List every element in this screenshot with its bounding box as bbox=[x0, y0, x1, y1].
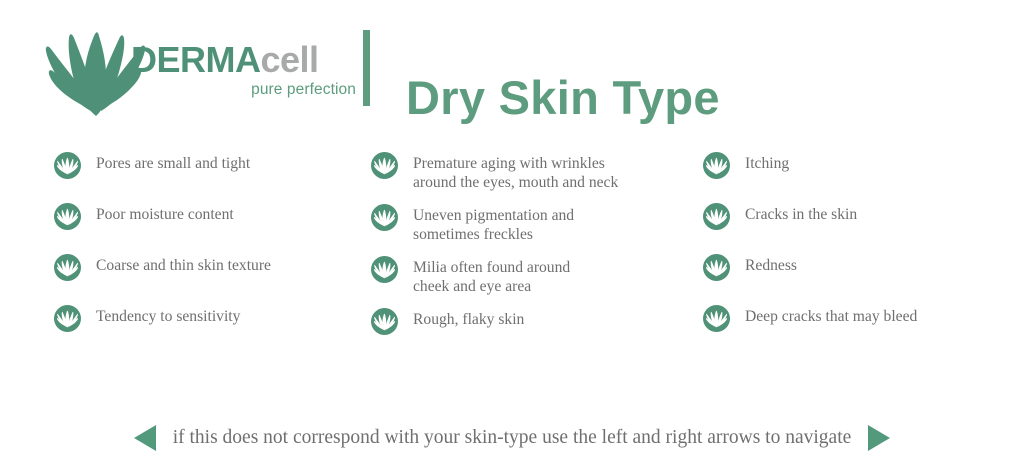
aloe-bullet-icon bbox=[371, 256, 398, 283]
feature-item-label: Pores are small and tight bbox=[96, 152, 354, 173]
feature-item-line: Itching bbox=[745, 154, 1003, 173]
aloe-bullet-icon bbox=[703, 305, 730, 332]
feature-item-label: Coarse and thin skin texture bbox=[96, 254, 354, 275]
aloe-bullet-icon bbox=[54, 305, 81, 332]
feature-item-label: Cracks in the skin bbox=[745, 203, 1003, 224]
aloe-bullet-icon bbox=[371, 152, 398, 179]
aloe-bullet-icon bbox=[54, 203, 81, 230]
aloe-bullet-icon bbox=[371, 204, 398, 231]
feature-item: Tendency to sensitivity bbox=[54, 305, 354, 331]
navigation-footer: if this does not correspond with your sk… bbox=[0, 415, 1024, 461]
feature-item-label: Uneven pigmentation andsometimes freckle… bbox=[413, 204, 693, 244]
aloe-bullet-icon bbox=[703, 152, 730, 179]
brand-tagline: pure perfection bbox=[131, 81, 356, 99]
feature-item-label: Premature aging with wrinklesaround the … bbox=[413, 152, 693, 192]
brand-name-secondary: cell bbox=[261, 39, 319, 80]
feature-column-2: Premature aging with wrinklesaround the … bbox=[371, 152, 693, 346]
feature-item-line: Premature aging with wrinkles bbox=[413, 154, 693, 173]
aloe-bullet-icon bbox=[54, 254, 81, 281]
feature-item-label: Deep cracks that may bleed bbox=[745, 305, 1003, 326]
feature-item: Deep cracks that may bleed bbox=[703, 305, 1003, 331]
aloe-bullet-icon bbox=[54, 152, 81, 179]
brand-name-primary: DERMA bbox=[131, 39, 261, 80]
feature-item: Rough, flaky skin bbox=[371, 308, 693, 334]
feature-item-label: Tendency to sensitivity bbox=[96, 305, 354, 326]
feature-item-line: Cracks in the skin bbox=[745, 205, 1003, 224]
feature-item-line: Uneven pigmentation and bbox=[413, 206, 693, 225]
brand-name: DERMAcell bbox=[131, 40, 356, 80]
feature-item-line: sometimes freckles bbox=[413, 225, 693, 244]
page-header: DERMAcell pure perfection Dry Skin Type bbox=[0, 0, 1024, 130]
feature-item: Pores are small and tight bbox=[54, 152, 354, 178]
feature-item-label: Itching bbox=[745, 152, 1003, 173]
feature-item: Premature aging with wrinklesaround the … bbox=[371, 152, 693, 192]
feature-item-line: Coarse and thin skin texture bbox=[96, 256, 354, 275]
feature-column-3: ItchingCracks in the skinRednessDeep cra… bbox=[703, 152, 1003, 356]
feature-item: Cracks in the skin bbox=[703, 203, 1003, 229]
feature-item-line: Rough, flaky skin bbox=[413, 310, 693, 329]
feature-item: Milia often found aroundcheek and eye ar… bbox=[371, 256, 693, 296]
feature-item-line: Poor moisture content bbox=[96, 205, 354, 224]
page-title: Dry Skin Type bbox=[406, 69, 720, 127]
feature-item-line: Milia often found around bbox=[413, 258, 693, 277]
feature-item: Redness bbox=[703, 254, 1003, 280]
feature-item-line: Deep cracks that may bleed bbox=[745, 307, 1003, 326]
feature-item: Itching bbox=[703, 152, 1003, 178]
feature-item-line: Pores are small and tight bbox=[96, 154, 354, 173]
navigation-hint: if this does not correspond with your sk… bbox=[159, 426, 866, 450]
feature-item-label: Redness bbox=[745, 254, 1003, 275]
header-divider bbox=[363, 30, 370, 106]
feature-item-line: cheek and eye area bbox=[413, 277, 693, 296]
feature-item: Poor moisture content bbox=[54, 203, 354, 229]
aloe-bullet-icon bbox=[703, 203, 730, 230]
aloe-bullet-icon bbox=[371, 308, 398, 335]
brand-wordmark: DERMAcell pure perfection bbox=[131, 40, 356, 110]
feature-item-label: Milia often found aroundcheek and eye ar… bbox=[413, 256, 693, 296]
feature-item-label: Rough, flaky skin bbox=[413, 308, 693, 329]
feature-item: Uneven pigmentation andsometimes freckle… bbox=[371, 204, 693, 244]
feature-item-line: Tendency to sensitivity bbox=[96, 307, 354, 326]
arrow-left-icon[interactable] bbox=[131, 423, 159, 453]
features-columns: Pores are small and tightPoor moisture c… bbox=[0, 152, 1024, 362]
feature-column-1: Pores are small and tightPoor moisture c… bbox=[54, 152, 354, 356]
feature-item-line: around the eyes, mouth and neck bbox=[413, 173, 693, 192]
arrow-right-icon[interactable] bbox=[865, 423, 893, 453]
feature-item-line: Redness bbox=[745, 256, 1003, 275]
feature-item: Coarse and thin skin texture bbox=[54, 254, 354, 280]
aloe-bullet-icon bbox=[703, 254, 730, 281]
feature-item-label: Poor moisture content bbox=[96, 203, 354, 224]
